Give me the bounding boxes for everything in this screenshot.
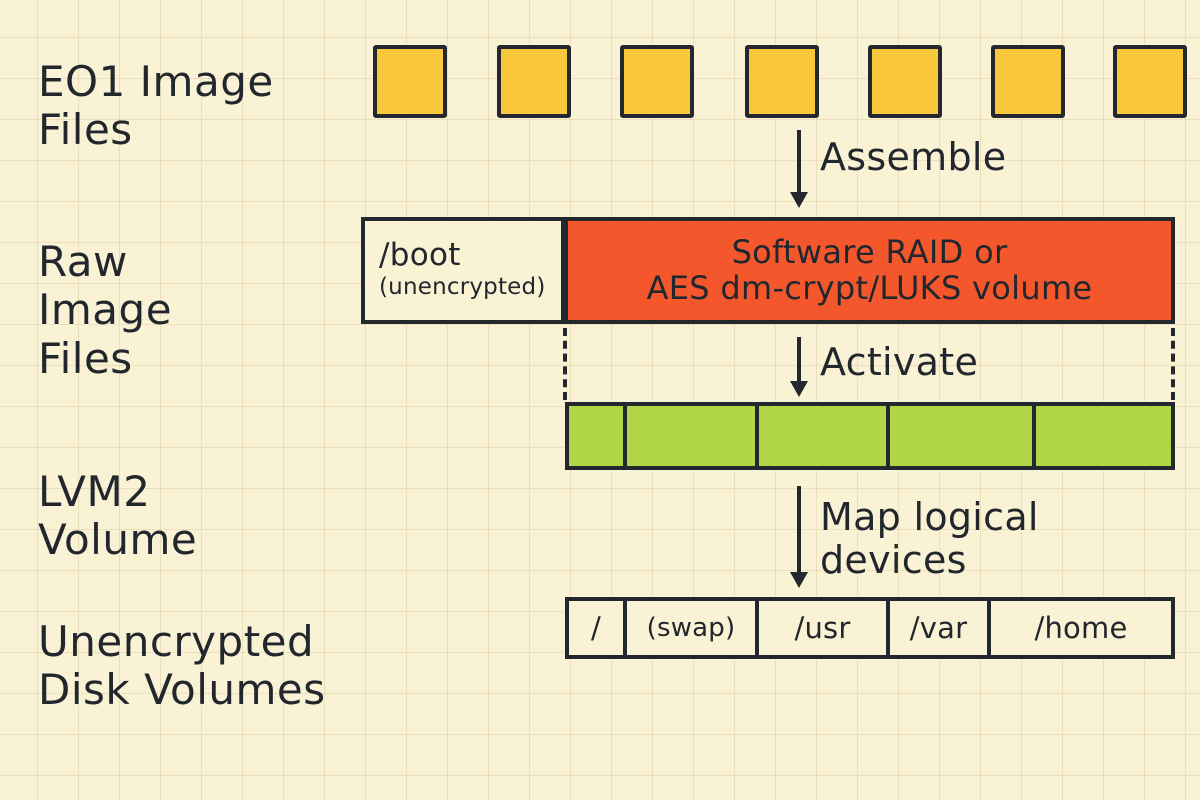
arrow-head [790, 381, 808, 397]
lvm2-segment [759, 406, 890, 466]
e01-image-file-box [497, 45, 571, 118]
arrow-head [790, 192, 808, 208]
e01-image-file-box [620, 45, 694, 118]
lvm2-segment [627, 406, 759, 466]
boot-partition-note: (unencrypted) [379, 274, 561, 300]
dashed-connector-left [563, 328, 567, 400]
e01-image-file-box [1113, 45, 1187, 118]
raid-volume-line-2: AES dm-crypt/LUKS volume [647, 271, 1093, 307]
e01-image-file-box [991, 45, 1065, 118]
volume-cell: /home [991, 601, 1171, 655]
e01-image-file-box [745, 45, 819, 118]
raid-luks-volume-cell: Software RAID or AES dm-crypt/LUKS volum… [565, 217, 1175, 324]
volume-cell: / [569, 601, 627, 655]
raw-image-bar: /boot (unencrypted) Software RAID or AES… [361, 217, 1175, 324]
activate-label: Activate [820, 341, 978, 384]
activate-arrow-icon [786, 337, 812, 399]
lvm2-segment [890, 406, 1036, 466]
map-logical-devices-arrow-icon [786, 486, 812, 592]
row-label-raw-image-files: Raw Image Files [38, 238, 172, 383]
volume-cell: /var [890, 601, 991, 655]
diagram-canvas: EO1 Image Files Raw Image Files LVM2 Vol… [0, 0, 1200, 800]
arrow-head [790, 572, 808, 588]
volume-cell: (swap) [627, 601, 759, 655]
arrow-shaft [797, 486, 801, 576]
row-label-lvm2-volume: LVM2 Volume [38, 468, 197, 565]
map-logical-devices-label: Map logical devices [820, 496, 1039, 581]
boot-partition-name: /boot [379, 240, 561, 271]
assemble-arrow-icon [786, 130, 812, 212]
e01-image-file-box [868, 45, 942, 118]
unencrypted-volumes-bar: /(swap)/usr/var/home [565, 597, 1175, 659]
lvm2-segment [569, 406, 627, 466]
dashed-connector-right [1171, 328, 1175, 400]
e01-image-file-box [373, 45, 447, 118]
boot-partition-cell: /boot (unencrypted) [361, 217, 565, 324]
row-label-e01-image-files: EO1 Image Files [38, 58, 274, 155]
volume-cell: /usr [759, 601, 890, 655]
lvm2-segment [1036, 406, 1171, 466]
arrow-shaft [797, 130, 801, 196]
lvm2-volume-bar [565, 402, 1175, 470]
row-label-unencrypted-disk-volumes: Unencrypted Disk Volumes [38, 618, 326, 715]
raid-volume-line-1: Software RAID or [732, 235, 1008, 271]
arrow-shaft [797, 337, 801, 385]
assemble-label: Assemble [820, 136, 1006, 179]
